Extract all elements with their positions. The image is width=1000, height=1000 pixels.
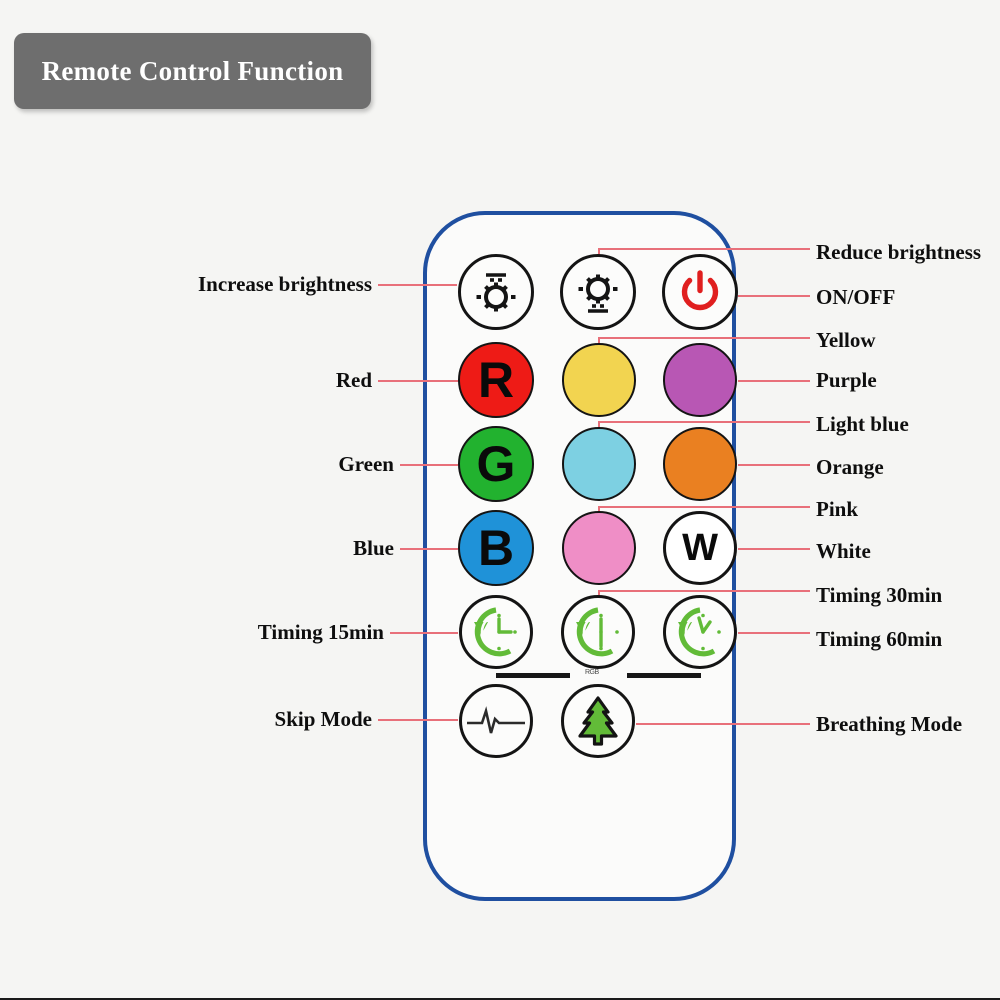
button-light-blue[interactable]	[562, 427, 636, 501]
diagram-canvas: Remote Control Function RGB	[0, 0, 1000, 1000]
callout-timing-15min: Timing 15min	[0, 622, 384, 643]
callout-yellow: Yellow	[816, 330, 876, 351]
callout-orange: Orange	[816, 457, 884, 478]
sun-minus-icon	[572, 266, 624, 318]
leader-line-pink	[598, 506, 810, 508]
button-white-label: W	[682, 529, 718, 567]
callout-green: Green	[0, 454, 394, 475]
callout-red: Red	[0, 370, 372, 391]
callout-skip-mode: Skip Mode	[0, 709, 372, 730]
clock-60-icon	[670, 602, 730, 662]
connector-bar-left	[496, 673, 570, 678]
sun-plus-icon	[470, 266, 522, 318]
button-reduce-brightness[interactable]	[560, 254, 636, 330]
callout-purple: Purple	[816, 370, 877, 391]
clock-15-icon	[466, 602, 526, 662]
title-banner: Remote Control Function	[14, 33, 371, 109]
clock-30-icon	[568, 602, 628, 662]
callout-timing-30min: Timing 30min	[816, 585, 942, 606]
button-timing-30min[interactable]	[561, 595, 635, 669]
tree-icon	[573, 695, 623, 747]
callout-pink: Pink	[816, 499, 858, 520]
leader-line-on-off	[738, 295, 810, 297]
callout-reduce-brightness: Reduce brightness	[816, 242, 981, 263]
leader-line-blue	[400, 548, 458, 550]
callout-breathing-mode: Breathing Mode	[816, 714, 962, 735]
callout-timing-60min: Timing 60min	[816, 629, 942, 650]
leader-line-yellow	[598, 337, 810, 339]
leader-line-timing-60min	[738, 632, 810, 634]
leader-line-timing-30min	[598, 590, 810, 592]
button-white[interactable]: W	[663, 511, 737, 585]
button-red-label: R	[478, 355, 514, 405]
leader-line-white	[738, 548, 810, 550]
button-skip-mode[interactable]	[459, 684, 533, 758]
callout-white: White	[816, 541, 871, 562]
button-green[interactable]: G	[458, 426, 534, 502]
button-breathing-mode[interactable]	[561, 684, 635, 758]
callout-light-blue: Light blue	[816, 414, 909, 435]
leader-line-timing-15min	[390, 632, 458, 634]
leader-line-orange	[738, 464, 810, 466]
callout-blue: Blue	[0, 538, 394, 559]
connector-bar-right	[627, 673, 701, 678]
button-increase-brightness[interactable]	[458, 254, 534, 330]
button-timing-60min[interactable]	[663, 595, 737, 669]
button-on-off[interactable]	[662, 254, 738, 330]
button-timing-15min[interactable]	[459, 595, 533, 669]
leader-line-reduce-brightness	[598, 248, 810, 250]
leader-line-green	[400, 464, 458, 466]
remote-model-mark: RGB	[585, 669, 599, 676]
page-title: Remote Control Function	[14, 33, 371, 109]
leader-line-increase-brightness	[378, 284, 457, 286]
leader-line-breathing-mode	[636, 723, 810, 725]
callout-increase-brightness: Increase brightness	[0, 274, 372, 295]
leader-line-purple	[738, 380, 810, 382]
button-yellow[interactable]	[562, 343, 636, 417]
leader-line-light-blue	[598, 421, 810, 423]
leader-line-skip-mode	[378, 719, 458, 721]
button-pink[interactable]	[562, 511, 636, 585]
button-blue-label: B	[478, 523, 514, 573]
pulse-wave-icon	[465, 699, 527, 743]
button-green-label: G	[477, 439, 516, 489]
button-blue[interactable]: B	[458, 510, 534, 586]
leader-line-red	[378, 380, 458, 382]
callout-on-off: ON/OFF	[816, 287, 895, 308]
power-icon	[677, 269, 723, 315]
button-orange[interactable]	[663, 427, 737, 501]
button-red[interactable]: R	[458, 342, 534, 418]
button-purple[interactable]	[663, 343, 737, 417]
